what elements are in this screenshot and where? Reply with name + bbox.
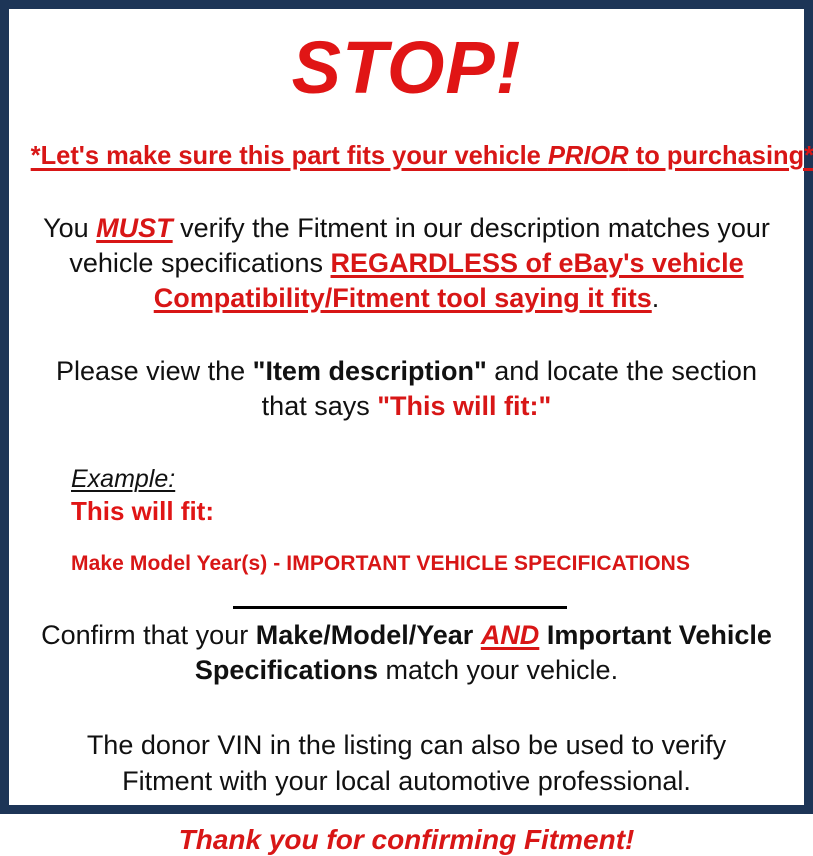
confirm-text-part1: Confirm that your bbox=[41, 620, 256, 650]
page-title: STOP! bbox=[23, 31, 790, 105]
must-emphasis: MUST bbox=[96, 213, 173, 243]
horizontal-divider bbox=[233, 606, 567, 609]
subtitle-banner: *Let's make sure this part fits your veh… bbox=[31, 141, 783, 171]
paragraph-confirm: Confirm that your Make/Model/Year AND Im… bbox=[23, 618, 790, 688]
make-model-year-label: Make/Model/Year bbox=[256, 620, 481, 650]
paragraph-item-description: Please view the "Item description" and l… bbox=[23, 354, 790, 424]
item-description-label: "Item description" bbox=[253, 356, 487, 386]
notice-content: STOP! *Let's make sure this part fits yo… bbox=[9, 9, 804, 805]
subtitle-text-before: *Let's make sure this part fits your veh… bbox=[31, 140, 548, 170]
subtitle-emphasis-prior: PRIOR bbox=[548, 140, 629, 170]
fitment-notice-card: STOP! *Let's make sure this part fits yo… bbox=[0, 0, 813, 814]
this-will-fit-quote: "This will fit:" bbox=[377, 391, 551, 421]
and-emphasis: AND bbox=[481, 620, 540, 650]
paragraph-donor-vin: The donor VIN in the listing can also be… bbox=[23, 728, 790, 798]
confirm-text-part2: match your vehicle. bbox=[378, 655, 618, 685]
example-spec-line: Make Model Year(s) - IMPORTANT VEHICLE S… bbox=[71, 551, 790, 576]
example-label: Example: bbox=[71, 466, 175, 494]
must-text-part3: . bbox=[652, 283, 660, 313]
example-block: Example: This will fit: Make Model Year(… bbox=[23, 466, 790, 576]
example-fit-heading: This will fit: bbox=[71, 496, 790, 527]
must-text-part1: You bbox=[43, 213, 96, 243]
thanks-message: Thank you for confirming Fitment! bbox=[23, 823, 790, 856]
paragraph-must-verify: You MUST verify the Fitment in our descr… bbox=[23, 211, 790, 316]
please-text-part1: Please view the bbox=[56, 356, 253, 386]
subtitle-text-after: to purchasing* bbox=[629, 140, 813, 170]
example-label-row: Example: bbox=[71, 466, 790, 494]
